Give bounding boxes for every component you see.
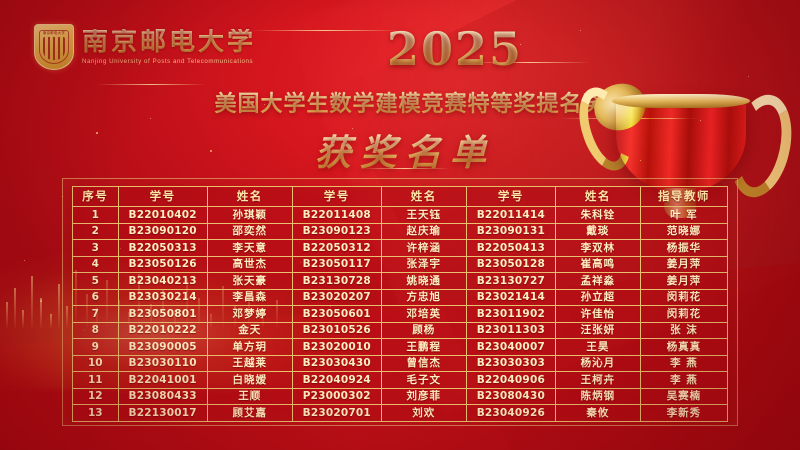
table-cell: 方忠旭 (381, 289, 466, 306)
table-cell: 李 燕 (640, 372, 727, 389)
skyline-bar (22, 310, 24, 328)
light-ray (96, 84, 206, 85)
table-cell: B22040924 (292, 372, 381, 389)
table-cell: B23050601 (292, 306, 381, 323)
table-cell: 戴琰 (555, 223, 640, 240)
table-cell: B23040213 (118, 273, 207, 290)
table-cell: B23090120 (118, 223, 207, 240)
table-cell: B23080433 (118, 388, 207, 405)
poster-canvas: 南京邮电大学 南京邮电大学 Nanjing University of Post… (0, 0, 800, 450)
skyline-bar (58, 284, 60, 328)
table-cell: B23011303 (466, 322, 555, 339)
table-header-cell-1: 学号 (118, 187, 207, 207)
table-cell: 13 (73, 405, 119, 422)
table-header-cell-5: 学号 (466, 187, 555, 207)
table-row: 5B23040213张天豪B23130728姚晓通B23130727孟祥淼姜月萍 (73, 273, 728, 290)
table-cell: 4 (73, 256, 119, 273)
table-cell: B23040926 (466, 405, 555, 422)
skyline-bar (40, 298, 42, 328)
table-cell: 崔高鸣 (555, 256, 640, 273)
trophy-rim (612, 94, 750, 108)
table-cell: B22010222 (118, 322, 207, 339)
table-cell: 孙琪颖 (207, 207, 292, 224)
table-header-row: 序号学号姓名学号姓名学号姓名指导教师 (73, 187, 728, 207)
table-cell: 单方玥 (207, 339, 292, 356)
table-cell: 高世杰 (207, 256, 292, 273)
table-cell: B23050126 (118, 256, 207, 273)
table-cell: 孟祥淼 (555, 273, 640, 290)
award-table: 序号学号姓名学号姓名学号姓名指导教师 1B22010402孙琪颖B2201140… (72, 186, 728, 422)
table-row: 8B22010222金天B23010526顾杨B23011303汪张妍张 沫 (73, 322, 728, 339)
table-cell: 王越莱 (207, 355, 292, 372)
table-cell: 刘彦菲 (381, 388, 466, 405)
table-cell: B23130728 (292, 273, 381, 290)
table-cell: 顾艾嘉 (207, 405, 292, 422)
table-cell: B23080430 (466, 388, 555, 405)
table-row: 2B23090120邵奕然B23090123赵庆瑜B23090131戴琰范晓娜 (73, 223, 728, 240)
table-cell: B22041001 (118, 372, 207, 389)
table-cell: B22130017 (118, 405, 207, 422)
table-row: 4B23050126高世杰B23050117张泽宇B23050128崔高鸣姜月萍 (73, 256, 728, 273)
table-cell: B22040906 (466, 372, 555, 389)
table-cell: 秦攸 (555, 405, 640, 422)
skyline-bar (31, 276, 33, 328)
table-header-cell-0: 序号 (73, 187, 119, 207)
table-row: 6B23030214李昌森B23020207方忠旭B23021414孙立超闵莉花 (73, 289, 728, 306)
table-cell: 姜月萍 (640, 256, 727, 273)
table-cell: 陈炳钢 (555, 388, 640, 405)
table-cell: 李双林 (555, 240, 640, 257)
table-cell: B23020701 (292, 405, 381, 422)
table-cell: 王天钰 (381, 207, 466, 224)
table-cell: 邓培英 (381, 306, 466, 323)
table-cell: 顾杨 (381, 322, 466, 339)
table-cell: B23050128 (466, 256, 555, 273)
skyline-bar (6, 302, 8, 328)
table-cell: 5 (73, 273, 119, 290)
table-cell: B23030303 (466, 355, 555, 372)
table-cell: 12 (73, 388, 119, 405)
table-cell: B22011414 (466, 207, 555, 224)
table-cell: 范晓娜 (640, 223, 727, 240)
table-cell: 王顺 (207, 388, 292, 405)
table-cell: 邓梦婷 (207, 306, 292, 323)
table-cell: B23130727 (466, 273, 555, 290)
table-cell: 刘欢 (381, 405, 466, 422)
table-cell: 汪张妍 (555, 322, 640, 339)
table-header-cell-3: 学号 (292, 187, 381, 207)
table-cell: 李天意 (207, 240, 292, 257)
table-cell: B23030214 (118, 289, 207, 306)
table-cell: P23000302 (292, 388, 381, 405)
table-cell: B23010526 (292, 322, 381, 339)
table-cell: 张天豪 (207, 273, 292, 290)
sparkle (40, 300, 42, 302)
table-cell: B23030110 (118, 355, 207, 372)
table-cell: 6 (73, 289, 119, 306)
table-cell: 许梓涵 (381, 240, 466, 257)
table-cell: B23030430 (292, 355, 381, 372)
table-cell: 李 燕 (640, 355, 727, 372)
table-cell: 邵奕然 (207, 223, 292, 240)
table-cell: B23011902 (466, 306, 555, 323)
table-header-cell-7: 指导教师 (640, 187, 727, 207)
table-cell: 10 (73, 355, 119, 372)
table-cell: B22010402 (118, 207, 207, 224)
table-row: 9B23090005单方玥B23020010王鹏程B23040007王昊杨真真 (73, 339, 728, 356)
table-cell: 2 (73, 223, 119, 240)
table-cell: 3 (73, 240, 119, 257)
table-cell: 姜月萍 (640, 273, 727, 290)
table-cell: 姚晓通 (381, 273, 466, 290)
table-cell: 王鹏程 (381, 339, 466, 356)
table-cell: 许佳怡 (555, 306, 640, 323)
table-cell: B23050801 (118, 306, 207, 323)
table-cell: B22050313 (118, 240, 207, 257)
table-cell: B22050312 (292, 240, 381, 257)
table-cell: B23021414 (466, 289, 555, 306)
table-cell: 杨沁月 (555, 355, 640, 372)
table-cell: 张泽宇 (381, 256, 466, 273)
table-cell: 李新秀 (640, 405, 727, 422)
table-cell: B22011408 (292, 207, 381, 224)
table-cell: 金天 (207, 322, 292, 339)
table-cell: B23090005 (118, 339, 207, 356)
table-row: 7B23050801邓梦婷B23050601邓培英B23011902许佳怡闵莉花 (73, 306, 728, 323)
table-header-cell-2: 姓名 (207, 187, 292, 207)
table-cell: 9 (73, 339, 119, 356)
table-cell: B23040007 (466, 339, 555, 356)
table-row: 1B22010402孙琪颖B22011408王天钰B22011414朱科铨叶 军 (73, 207, 728, 224)
table-cell: 杨真真 (640, 339, 727, 356)
table-row: 10B23030110王越莱B23030430曾信杰B23030303杨沁月李 … (73, 355, 728, 372)
table-cell: B23020010 (292, 339, 381, 356)
table-cell: 杨振华 (640, 240, 727, 257)
table-row: 3B22050313李天意B22050312许梓涵B22050413李双林杨振华 (73, 240, 728, 257)
table-cell: 8 (73, 322, 119, 339)
table-cell: 叶 军 (640, 207, 727, 224)
table-cell: B23020207 (292, 289, 381, 306)
table-cell: 曾信杰 (381, 355, 466, 372)
table-cell: 吴赛楠 (640, 388, 727, 405)
table-cell: 11 (73, 372, 119, 389)
table-cell: 李昌森 (207, 289, 292, 306)
table-cell: B22050413 (466, 240, 555, 257)
table-cell: B23050117 (292, 256, 381, 273)
table-cell: 7 (73, 306, 119, 323)
table-cell: 1 (73, 207, 119, 224)
table-row: 13B22130017顾艾嘉B23020701刘欢B23040926秦攸李新秀 (73, 405, 728, 422)
table-cell: B23090131 (466, 223, 555, 240)
table-header-cell-4: 姓名 (381, 187, 466, 207)
table-row: 11B22041001白晓嫒B22040924毛子文B22040906王柯卉李 … (73, 372, 728, 389)
table-header-cell-6: 姓名 (555, 187, 640, 207)
award-table-body: 1B22010402孙琪颖B22011408王天钰B22011414朱科铨叶 军… (73, 207, 728, 422)
table-cell: 毛子文 (381, 372, 466, 389)
table-cell: 朱科铨 (555, 207, 640, 224)
skyline-bar (14, 288, 16, 328)
table-cell: 赵庆瑜 (381, 223, 466, 240)
table-cell: 孙立超 (555, 289, 640, 306)
table-cell: 闵莉花 (640, 289, 727, 306)
table-cell: 闵莉花 (640, 306, 727, 323)
skyline-bar (50, 314, 52, 328)
table-cell: B23090123 (292, 223, 381, 240)
table-row: 12B23080433王顺P23000302刘彦菲B23080430陈炳钢吴赛楠 (73, 388, 728, 405)
table-cell: 王昊 (555, 339, 640, 356)
table-cell: 王柯卉 (555, 372, 640, 389)
table-cell: 白晓嫒 (207, 372, 292, 389)
award-table-head: 序号学号姓名学号姓名学号姓名指导教师 (73, 187, 728, 207)
table-cell: 张 沫 (640, 322, 727, 339)
